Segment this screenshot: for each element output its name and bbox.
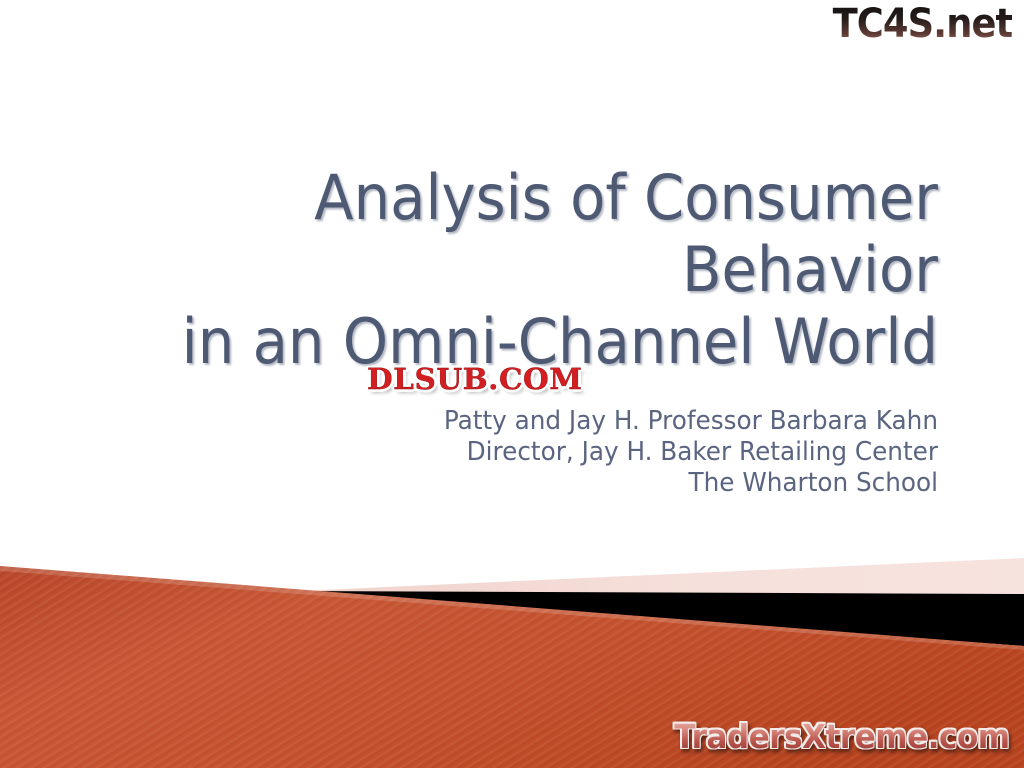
slide-title: Analysis of Consumer Behavior in an Omni… (60, 162, 938, 378)
slide-subtitle: Patty and Jay H. Professor Barbara Kahn … (60, 406, 938, 499)
dlsub-watermark: DLSUB.COM (367, 362, 583, 396)
tradersxtreme-watermark: TradersXtreme.com (675, 718, 1010, 756)
presentation-slide: TC4S.net Analysis of Consumer Behavior i… (0, 0, 1024, 768)
banner-pink-wedge (300, 558, 1024, 594)
subtitle-line-2: Director, Jay H. Baker Retailing Center (104, 437, 938, 468)
tc4s-site-logo: TC4S.net (832, 2, 1012, 46)
title-line-1: Analysis of Consumer (121, 162, 938, 234)
title-line-2: Behavior (121, 234, 938, 306)
subtitle-line-1: Patty and Jay H. Professor Barbara Kahn (104, 406, 938, 437)
subtitle-line-3: The Wharton School (104, 468, 938, 499)
